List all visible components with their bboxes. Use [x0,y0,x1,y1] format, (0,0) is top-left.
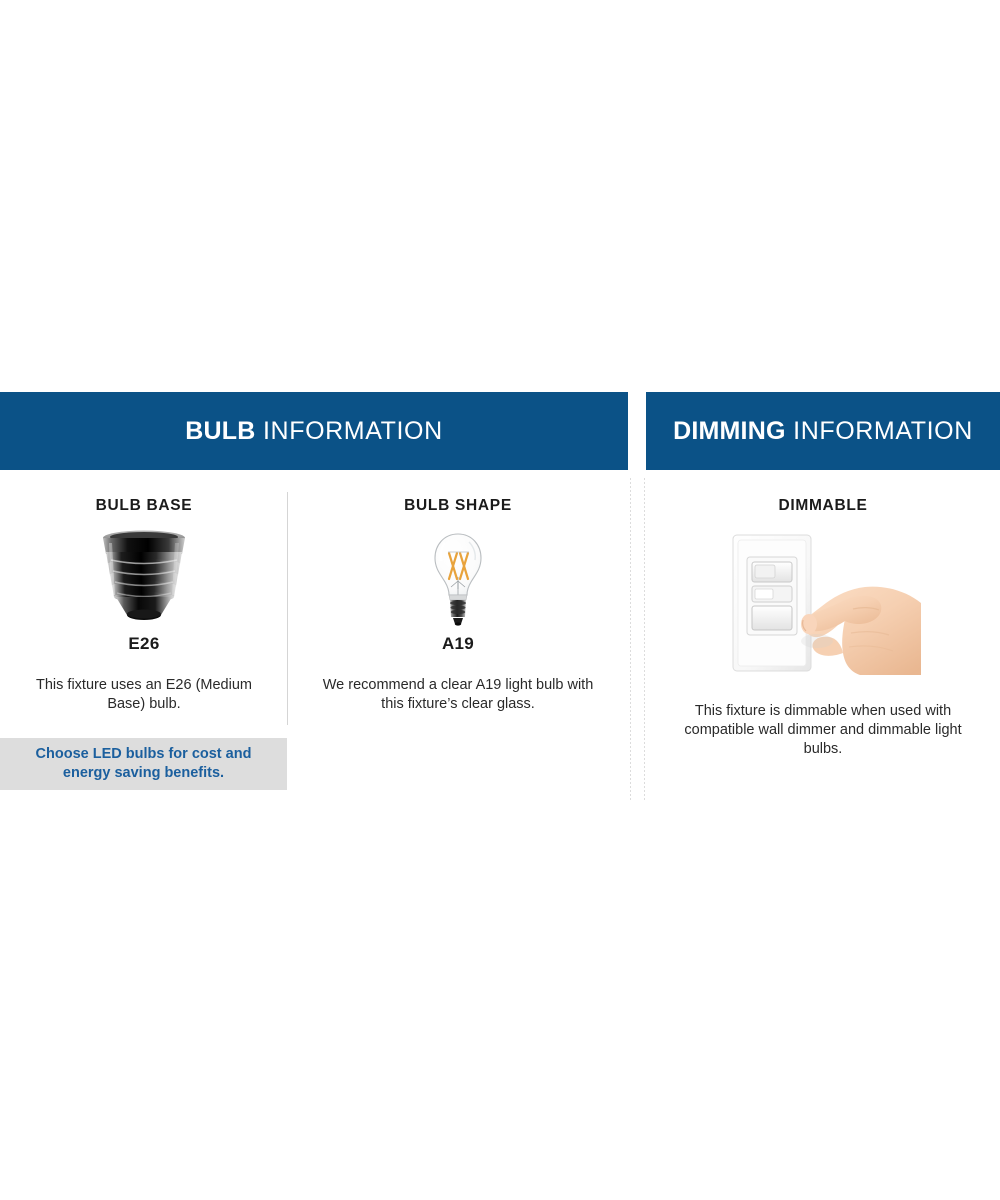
bulb-base-art [0,529,288,634]
bulb-shape-panel: BULB SHAPE [288,470,628,714]
dimming-information-header: DIMMING INFORMATION [646,392,1000,470]
bulb-information-title-strong: BULB [185,417,255,445]
bulb-information-title: BULB INFORMATION [185,417,443,446]
dimming-information-title: DIMMING INFORMATION [673,417,973,446]
dimming-information-title-light: INFORMATION [786,417,973,445]
bulb-information-header: BULB INFORMATION [0,392,628,470]
dimmable-title: DIMMABLE [646,497,1000,515]
bulb-shape-description: We recommend a clear A19 light bulb with… [315,676,601,714]
information-headers: BULB INFORMATION DIMMING INFORMATION [0,392,1000,470]
dimmable-panel: DIMMABLE [646,470,1000,759]
led-callout: Choose LED bulbs for cost and energy sav… [0,738,287,790]
bulb-base-panel: BULB BASE [0,470,288,714]
led-callout-text: Choose LED bulbs for cost and energy sav… [19,745,269,783]
bulb-base-description: This fixture uses an E26 (Medium Base) b… [24,676,264,714]
a19-light-bulb-icon [427,529,489,634]
dimmable-description: This fixture is dimmable when used with … [673,702,973,759]
e26-lamp-base-icon [85,529,203,634]
bulb-information-title-light: INFORMATION [255,417,442,445]
dimmable-art [646,529,1000,680]
bulb-base-title: BULB BASE [0,497,288,515]
bulb-base-code: E26 [0,634,288,654]
hand-pressing-wall-dimmer-icon [725,529,921,680]
dimming-information-title-strong: DIMMING [673,417,786,445]
bulb-shape-title: BULB SHAPE [288,497,628,515]
bulb-shape-code: A19 [288,634,628,654]
bulb-shape-art [288,529,628,634]
